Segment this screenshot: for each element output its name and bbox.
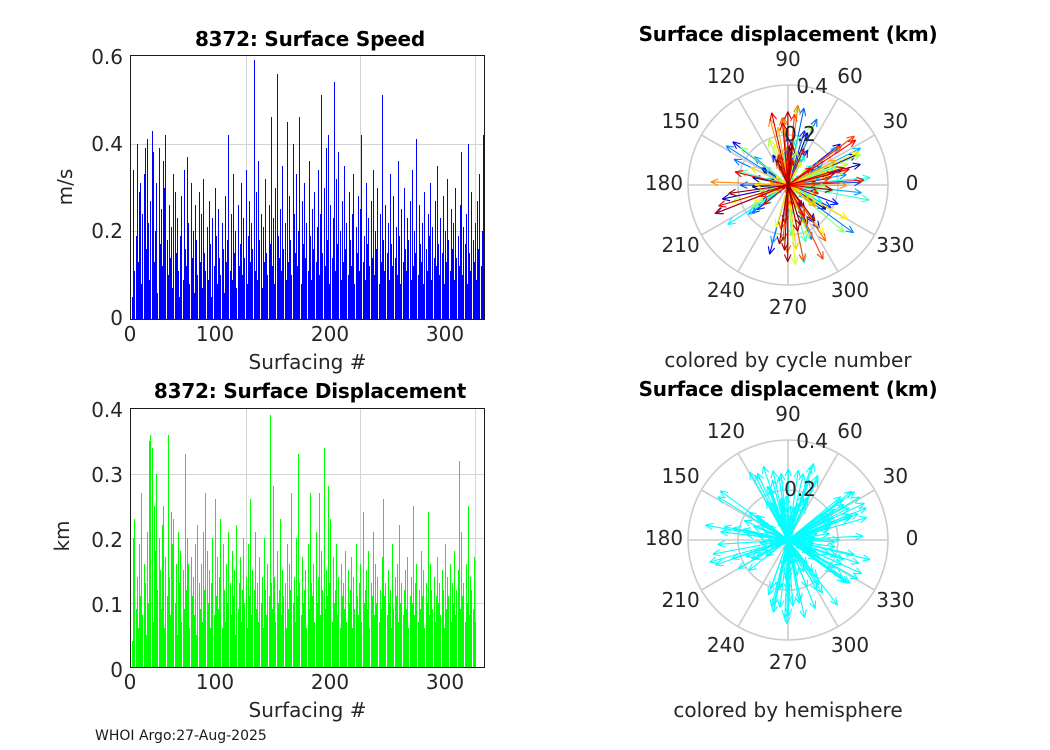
polar-angle-label-90: 90 — [758, 402, 818, 426]
polar-angle-label-300: 300 — [820, 633, 880, 657]
polar-angle-label-60: 60 — [820, 419, 880, 443]
polar-angle-label-120: 120 — [696, 419, 756, 443]
polar-hemisphere-caption: colored by hemisphere — [588, 698, 988, 722]
polar-radial-label-0.4: 0.4 — [796, 429, 828, 453]
figure-canvas: 8372: Surface Speed m/s 0.6 0.4 0.2 0 0 … — [0, 0, 1050, 750]
polar-angle-label-240: 240 — [696, 633, 756, 657]
polar-radial-label-0.2: 0.2 — [784, 477, 816, 501]
polar-angle-label-30: 30 — [865, 464, 925, 488]
polar-angle-label-180: 180 — [634, 526, 694, 550]
polar-angle-label-330: 330 — [865, 588, 925, 612]
polar-angle-label-210: 210 — [651, 588, 711, 612]
polar-hemisphere-plot — [0, 0, 1050, 750]
polar-angle-label-270: 270 — [758, 650, 818, 674]
figure-footer: WHOI Argo:27-Aug-2025 — [95, 728, 267, 744]
polar-angle-label-150: 150 — [651, 464, 711, 488]
polar-angle-label-0: 0 — [882, 526, 942, 550]
